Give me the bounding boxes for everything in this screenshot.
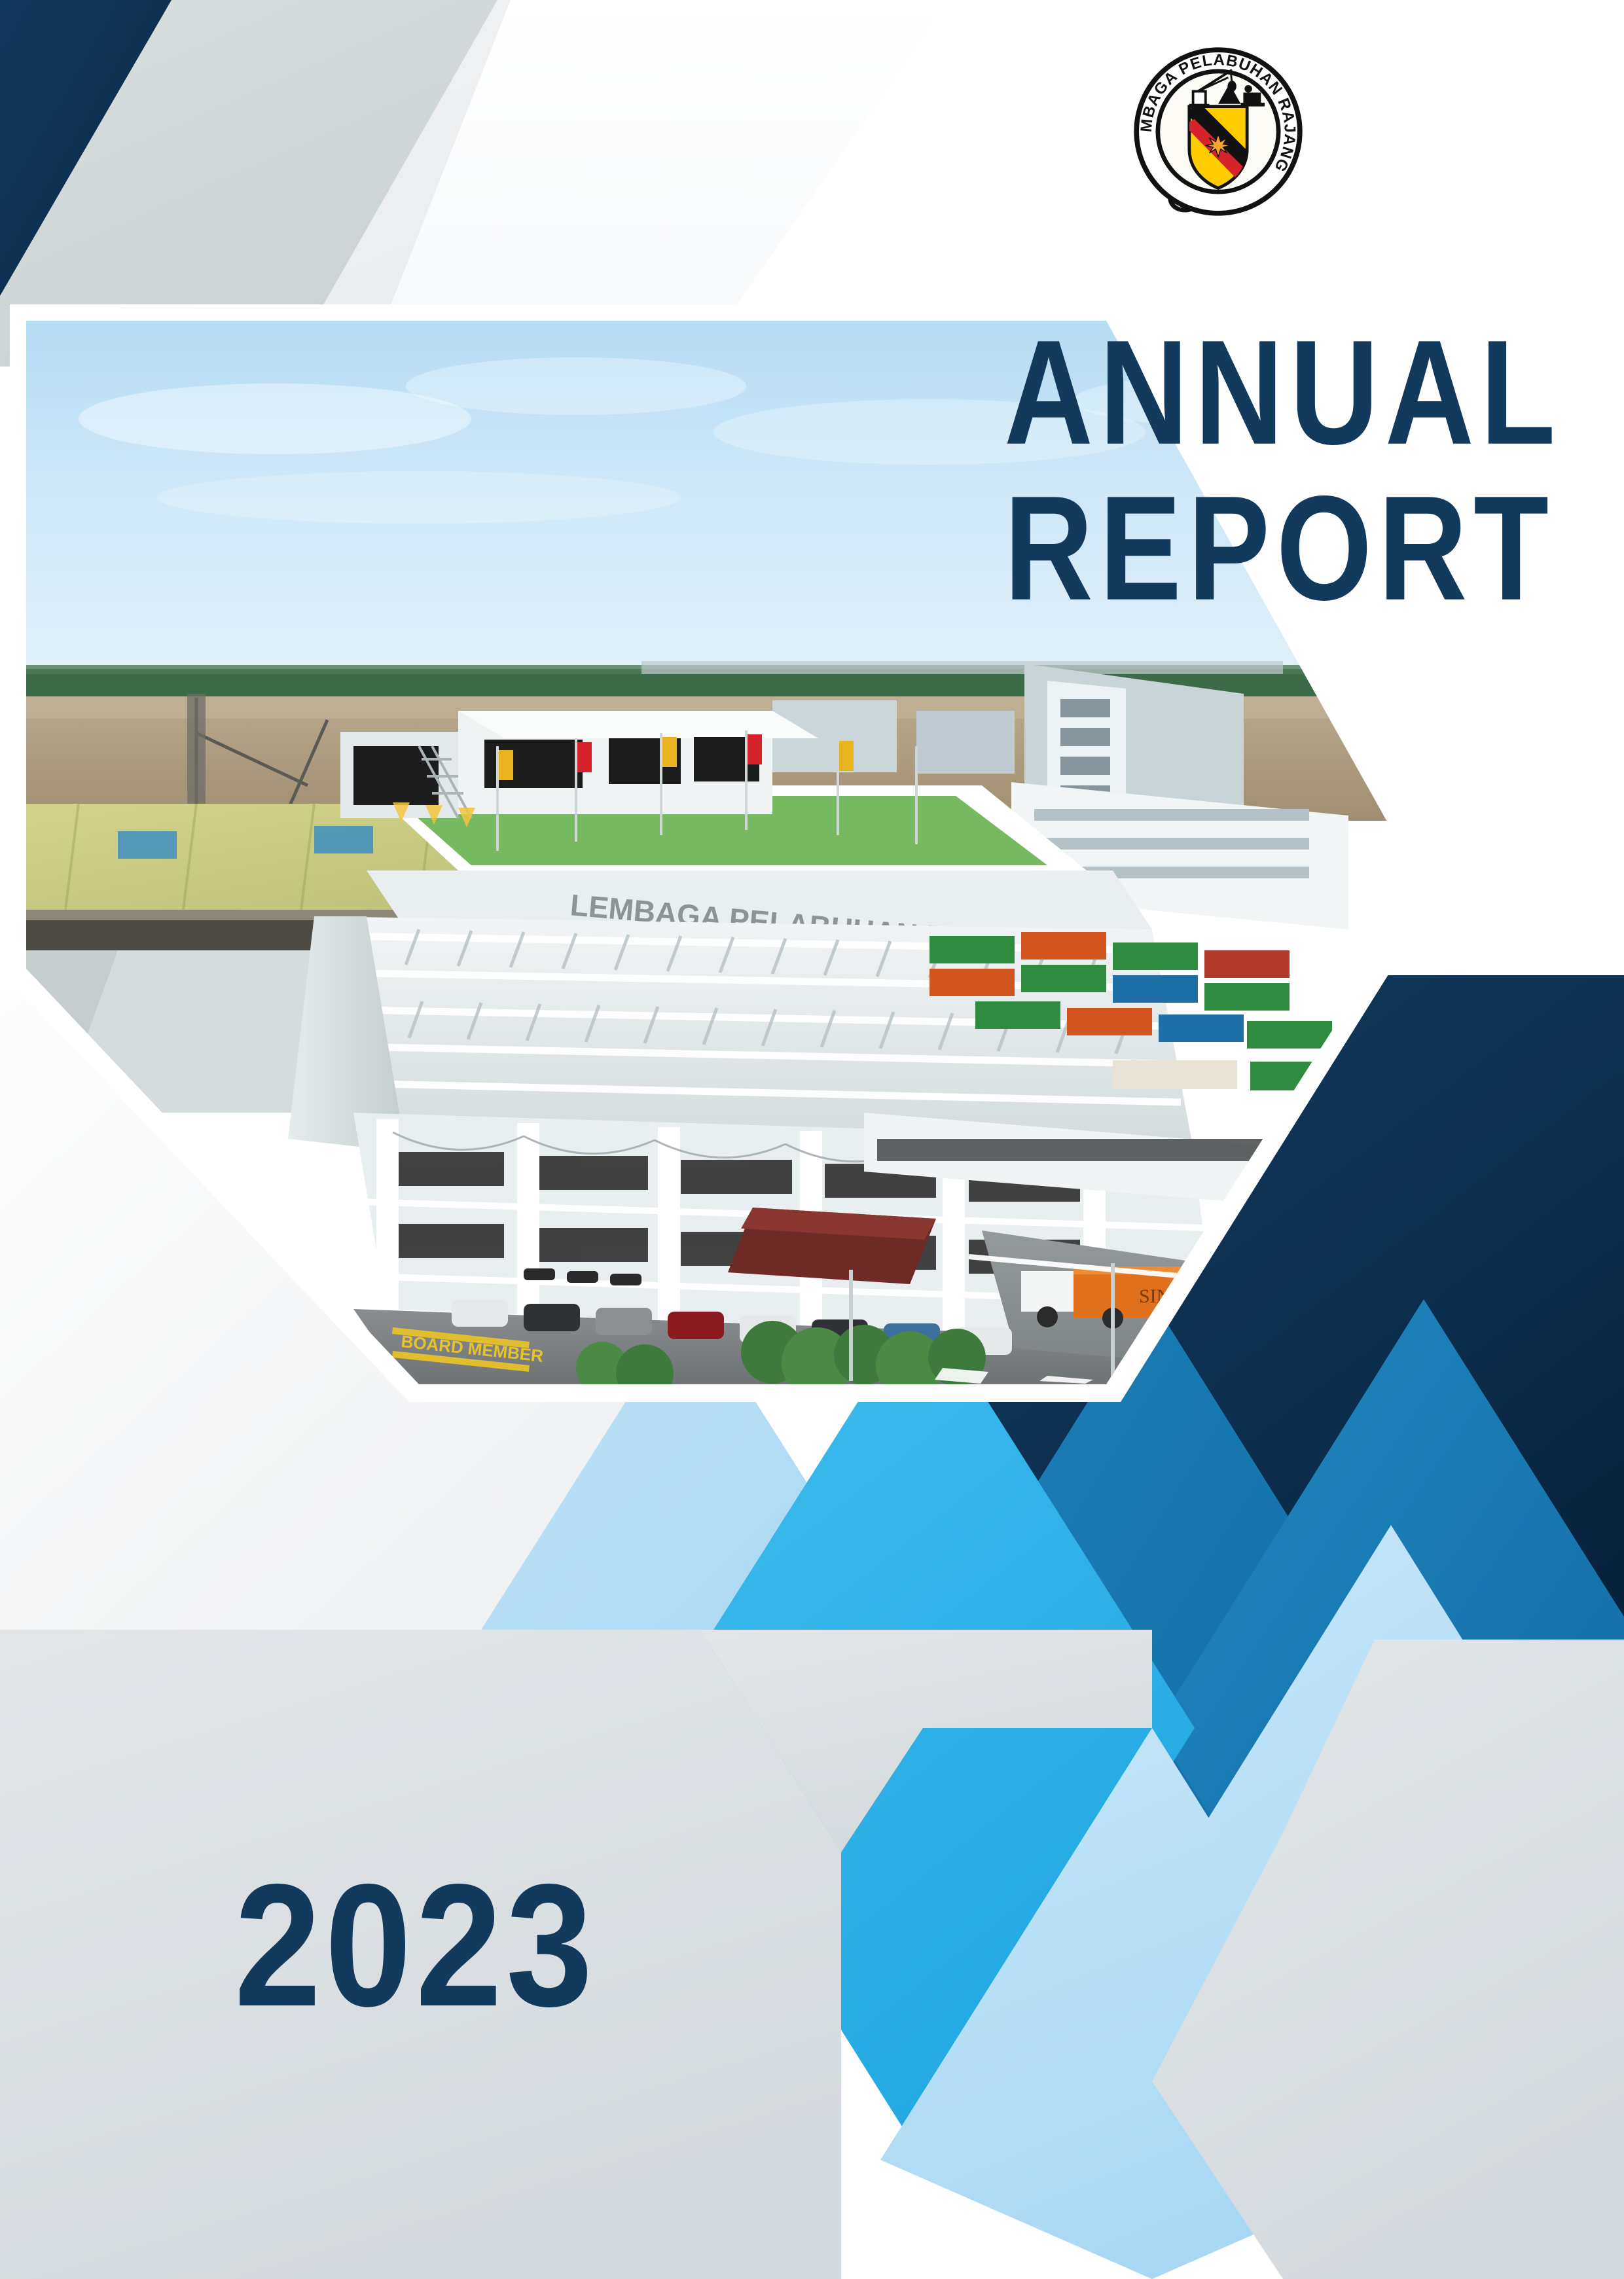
title-line-annual: ANNUAL bbox=[1004, 302, 1443, 483]
annual-report-cover: LEMBAGA PELABUHAN RAJANG bbox=[0, 0, 1624, 2279]
title-line-report: REPORT bbox=[1004, 458, 1443, 639]
organization-logo: LEMBAGA PELABUHAN RAJANG bbox=[1124, 37, 1312, 226]
cover-year: 2023 bbox=[234, 1859, 596, 2034]
cover-headline: ANNUAL REPORT bbox=[990, 302, 1461, 614]
